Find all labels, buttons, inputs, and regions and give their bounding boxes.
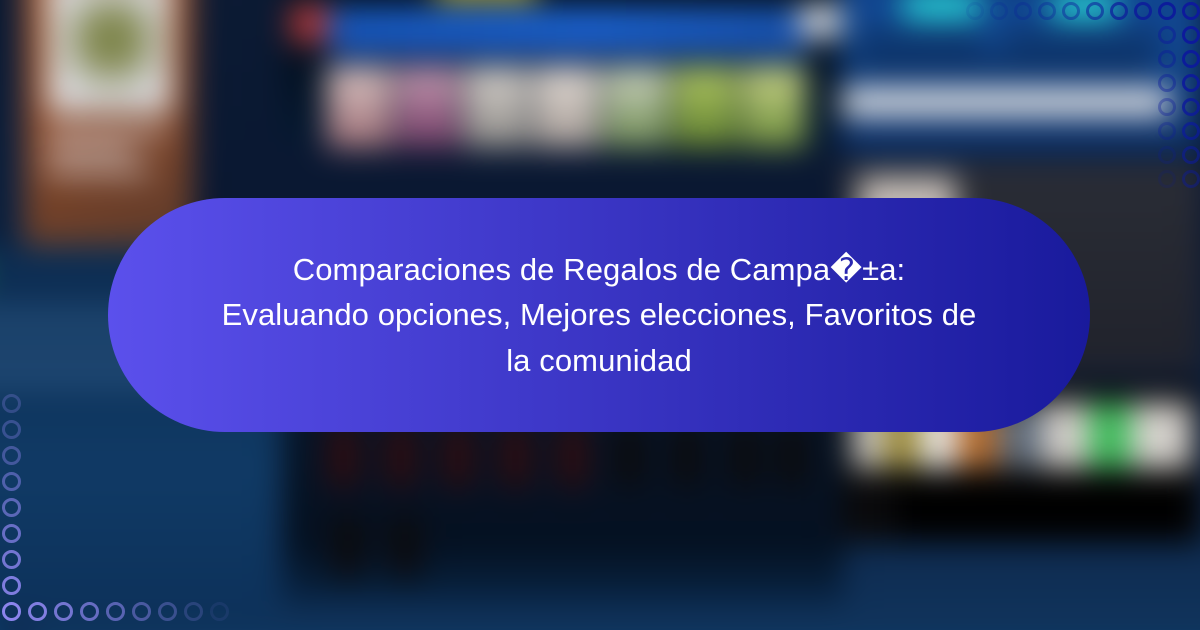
background-thumbnail-row: [327, 66, 806, 149]
background-blue-toolbar: [329, 8, 808, 46]
background-white-band: [842, 87, 1171, 117]
background-card-line: [47, 166, 149, 176]
background-teal-chip: [1052, 0, 1118, 19]
background-card-line: [47, 146, 132, 156]
background-black-box: [897, 479, 1192, 538]
background-white-button: [799, 5, 844, 37]
page-title: Comparaciones de Regalos de Campa�±a: Ev…: [219, 247, 979, 383]
background-blue-subbar: [329, 46, 808, 59]
og-card-canvas: Comparaciones de Regalos de Campa�±a: Ev…: [0, 0, 1200, 630]
background-card-line: [47, 127, 166, 137]
title-card: Comparaciones de Regalos de Campa�±a: Ev…: [108, 198, 1090, 432]
background-red-square: [290, 4, 328, 42]
background-orange-card: [23, 0, 193, 246]
background-right-panel: [842, 0, 1200, 153]
background-card-thumbnail: [47, 0, 172, 113]
background-teal-chip: [903, 0, 979, 19]
